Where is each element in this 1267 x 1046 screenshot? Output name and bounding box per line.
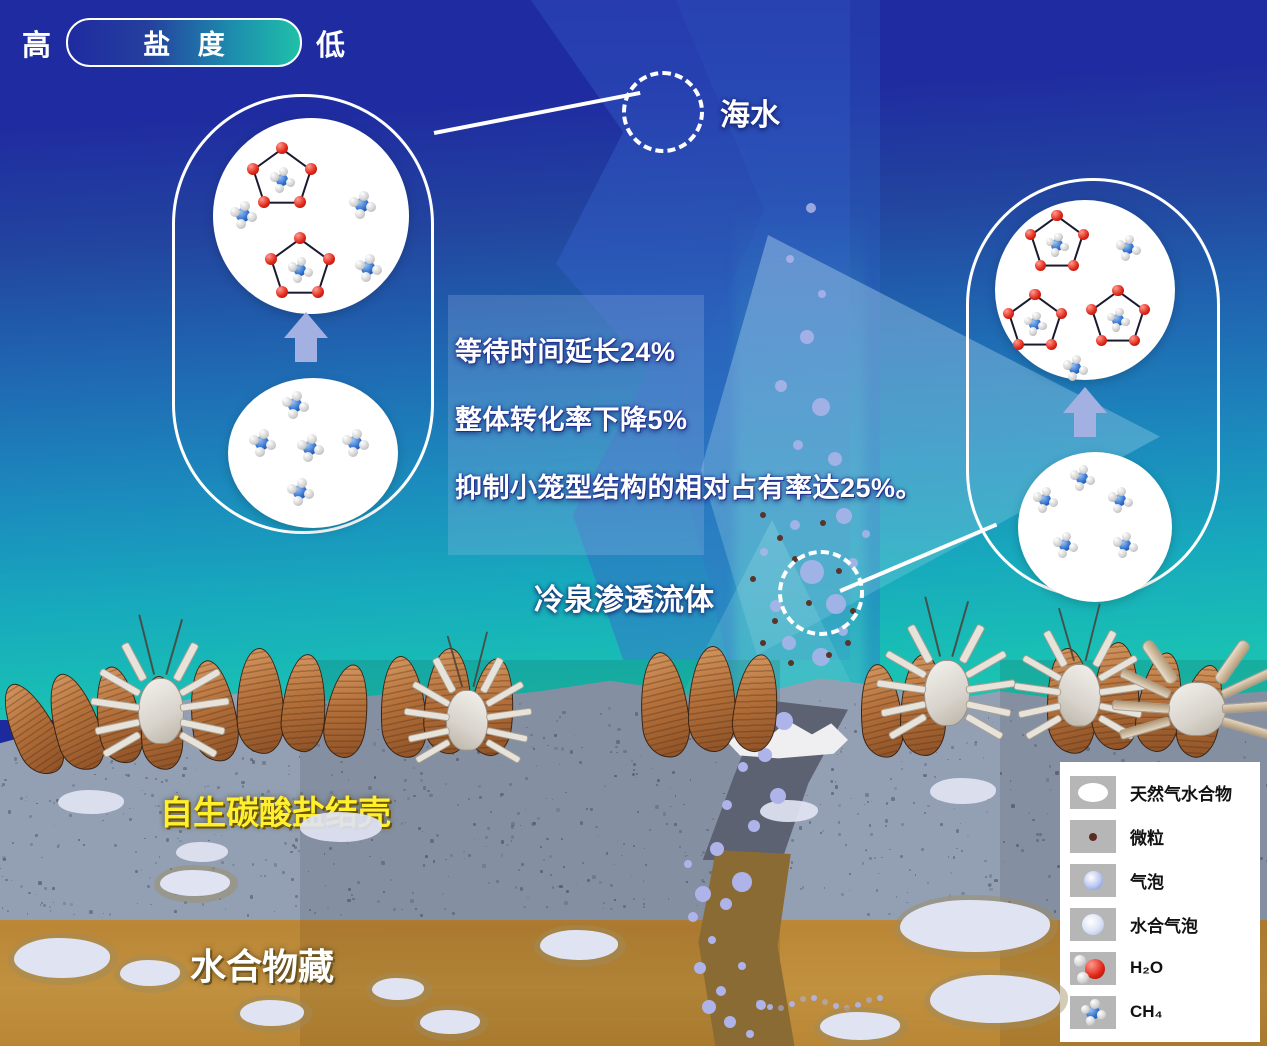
crust-speck <box>250 895 253 898</box>
legend-row: H₂O <box>1060 946 1260 990</box>
crust-speck <box>610 884 613 887</box>
crust-speck <box>511 822 515 826</box>
crust-speck <box>956 848 957 849</box>
hydrate-deposit <box>760 800 818 822</box>
crust-speck <box>430 839 433 842</box>
illustration-canvas: 高 盐 度 低 海水 冷泉渗透流体 等待时间延长24% 整体转化率下降5% 抑制… <box>0 0 1267 1046</box>
crust-speck <box>479 796 482 799</box>
crust-speck <box>151 794 154 797</box>
methane-molecule-swatch-icon <box>1070 996 1116 1029</box>
crust-speck <box>145 777 148 780</box>
water-bubble <box>786 255 794 263</box>
legend-label: 水合气泡 <box>1130 912 1198 937</box>
hydrogen-atom <box>270 172 279 181</box>
hydrogen-atom <box>1079 366 1088 375</box>
hydrogen-atom <box>361 272 371 282</box>
sand-stratum <box>314 985 587 987</box>
crust-speck <box>340 761 343 764</box>
crust-speck <box>420 779 423 782</box>
hydrate-deposit <box>120 960 180 986</box>
crust-speck <box>295 905 297 907</box>
stats-text-block: 等待时间延长24% 整体转化率下降5% 抑制小笼型结构的相对占有率达25%。 <box>455 330 975 534</box>
crust-speck <box>632 773 635 776</box>
crust-speck <box>166 838 169 841</box>
hydrogen-atom <box>342 435 352 445</box>
crust-speck <box>127 774 130 777</box>
oxygen-atom <box>1068 260 1079 271</box>
hydrogen-atom <box>1029 327 1037 335</box>
water-particle <box>750 576 756 582</box>
crust-speck <box>511 825 514 828</box>
crust-speck <box>519 703 521 705</box>
crust-speck <box>43 904 46 907</box>
squat-lobster <box>160 678 161 679</box>
crust-speck <box>587 879 590 882</box>
hydrogen-atom <box>255 447 265 457</box>
crust-speck <box>640 755 641 756</box>
crust-speck <box>288 765 290 767</box>
crust-speck <box>262 761 266 765</box>
crust-speck <box>410 899 414 903</box>
crust-speck <box>182 774 185 777</box>
crust-speck <box>901 768 903 770</box>
crust-speck <box>423 864 426 867</box>
crust-speck <box>608 707 611 710</box>
crust-speck <box>536 765 538 767</box>
crust-speck <box>927 882 929 884</box>
water-bubble <box>760 548 768 556</box>
legend-label: H₂O <box>1130 958 1163 978</box>
crust-speck <box>52 887 54 889</box>
legend-label: 天然气水合物 <box>1130 780 1232 805</box>
legend-label: CH₄ <box>1130 1002 1163 1022</box>
crust-speck <box>429 794 432 797</box>
crust-speck <box>610 908 612 910</box>
vent-bubble <box>720 898 732 910</box>
water-particle <box>845 640 851 646</box>
crust-speck <box>525 777 528 780</box>
crust-speck <box>221 861 223 863</box>
crust-speck <box>501 840 504 843</box>
water-particle <box>760 640 766 646</box>
crust-speck <box>921 848 924 851</box>
salinity-capsule-label: 盐 度 <box>133 23 235 62</box>
crust-speck <box>1034 744 1037 747</box>
hydrogen-atom <box>348 447 358 457</box>
hydrogen-atom <box>230 207 240 217</box>
legend-box: 天然气水合物 微粒 气泡 水合气泡 H₂O CH₄ <box>1060 762 1260 1042</box>
vent-bubble <box>722 800 732 810</box>
hydrogen-atom <box>359 191 369 201</box>
crust-speck <box>1054 910 1056 912</box>
crust-speck <box>161 781 163 783</box>
vent-bubble <box>688 912 698 922</box>
legend-row: CH₄ <box>1060 990 1260 1034</box>
crust-speck <box>549 855 552 858</box>
hydrate-deposit <box>58 790 124 814</box>
hydrogen-atom <box>307 434 317 444</box>
water-bubble <box>806 203 816 213</box>
hydrogen-atom <box>288 409 298 419</box>
stat-line-3: 抑制小笼型结构的相对占有率达25%。 <box>455 466 975 505</box>
salinity-low-label: 低 <box>316 22 346 64</box>
crust-speck <box>144 838 146 840</box>
crab <box>1196 682 1197 683</box>
crust-speck <box>295 895 298 898</box>
crust-speck <box>274 863 277 866</box>
crust-speck <box>478 785 481 788</box>
vent-bubble <box>695 886 711 902</box>
water-molecule-swatch-icon <box>1070 952 1116 985</box>
hydrogen-atom <box>1124 498 1133 507</box>
crust-speck <box>623 750 626 753</box>
crust-speck <box>20 797 23 800</box>
water-particle <box>777 535 783 541</box>
lobster-carapace <box>446 690 488 751</box>
crust-speck <box>595 826 598 829</box>
crust-speck <box>1036 839 1039 842</box>
crust-speck <box>347 899 350 902</box>
crust-speck <box>1050 789 1052 791</box>
hydrogen-atom <box>1086 476 1095 485</box>
crust-speck <box>29 815 32 818</box>
right-callout-methane-circle <box>1018 452 1172 602</box>
vent-bubble <box>702 1000 716 1014</box>
squat-lobster <box>467 690 468 691</box>
crust-speck <box>232 864 234 866</box>
squat-lobster <box>1079 664 1080 665</box>
hydrogen-atom <box>1097 1010 1107 1020</box>
oxygen-atom <box>1112 285 1123 296</box>
crust-speck <box>645 864 647 866</box>
legend-row: 微粒 <box>1060 814 1260 858</box>
seep-fluid-label: 冷泉渗透流体 <box>534 575 714 619</box>
crust-speck <box>112 767 113 768</box>
crust-speck <box>155 778 157 780</box>
crust-speck <box>563 866 565 868</box>
hydrate-deposit <box>540 930 618 960</box>
crust-speck <box>1046 778 1049 781</box>
stat-line-2: 整体转化率下降5% <box>455 398 975 437</box>
crust-speck <box>35 834 38 837</box>
vent-bubble <box>770 788 786 804</box>
crust-speck <box>252 863 254 865</box>
crust-speck <box>876 889 879 892</box>
hydrogen-atom <box>1090 999 1100 1009</box>
hydrate-deposit <box>160 870 230 896</box>
crust-speck <box>924 812 926 814</box>
legend-label: 微粒 <box>1130 824 1164 849</box>
crust-speck <box>401 822 404 825</box>
crust-speck <box>885 819 888 822</box>
crust-speck <box>592 875 596 879</box>
crust-speck <box>570 750 573 753</box>
crust-speck <box>533 748 535 750</box>
crust-speck <box>586 808 588 810</box>
hydrate-deposit <box>820 1012 900 1040</box>
crust-speck <box>617 728 620 731</box>
crust-speck <box>1046 899 1048 901</box>
crust-speck <box>290 851 293 854</box>
hydrate-swatch-icon <box>1070 776 1116 809</box>
crust-speck <box>540 870 543 873</box>
crust-speck <box>252 760 255 763</box>
vent-bubble <box>724 1016 736 1028</box>
crust-speck <box>377 900 380 903</box>
crust-speck <box>420 772 423 775</box>
gas-vent-conduit <box>650 700 870 1046</box>
oxygen-atom <box>1139 304 1150 315</box>
crust-speck <box>923 774 926 777</box>
hydrogen-atom <box>1108 492 1117 501</box>
vent-bubble <box>708 936 716 944</box>
crust-speck <box>413 795 415 797</box>
hydrogen-atom <box>1132 246 1141 255</box>
oxygen-atom <box>1129 335 1140 346</box>
hydrogen-atom <box>355 260 365 270</box>
hydrate-deposit <box>240 1000 304 1026</box>
hydrogen-atom <box>1081 1005 1091 1015</box>
vent-bubble <box>694 962 706 974</box>
crust-speck <box>960 823 961 824</box>
hydrogen-atom <box>1033 492 1042 501</box>
oxygen-atom <box>1078 229 1089 240</box>
crust-speck <box>2 856 5 859</box>
crust-speck <box>165 779 168 782</box>
sand-stratum <box>55 930 383 932</box>
water-bubble <box>818 290 826 298</box>
vent-bubble <box>748 820 760 832</box>
crust-speck <box>623 843 625 845</box>
crust-speck <box>15 762 17 764</box>
crust-speck <box>496 880 499 883</box>
hydrogen-atom <box>1070 470 1079 479</box>
water-particle <box>826 652 832 658</box>
hydrogen-atom <box>1121 318 1129 326</box>
lobster-carapace <box>924 660 970 726</box>
crust-speck <box>1055 771 1058 774</box>
crust-speck <box>561 747 565 751</box>
bubble-trail-dot <box>778 1005 784 1011</box>
hydrate-deposit <box>372 978 424 1000</box>
hydrate-deposit <box>900 900 1050 952</box>
crust-speck <box>1011 804 1015 808</box>
seawater-marker-ring <box>622 71 704 153</box>
crust-speck <box>984 860 986 862</box>
hydrogen-atom <box>1051 248 1059 256</box>
hydrogen-atom <box>352 429 362 439</box>
crust-speck <box>559 885 562 888</box>
lobster-carapace <box>1057 664 1101 727</box>
hydrogen-atom <box>236 219 246 229</box>
crust-speck <box>468 798 470 800</box>
oxygen-atom <box>305 163 317 175</box>
crust-speck <box>12 842 14 844</box>
crust-speck <box>89 910 93 914</box>
crust-speck <box>582 862 584 864</box>
crust-speck <box>445 783 447 785</box>
legend-row: 天然气水合物 <box>1060 770 1260 814</box>
crust-speck <box>457 804 459 806</box>
hydrogen-atom <box>1063 360 1072 369</box>
crust-speck <box>341 771 342 772</box>
crust-speck <box>579 761 581 763</box>
seep-fluid-marker-ring <box>778 550 864 636</box>
crust-speck <box>102 820 104 822</box>
bubble-swatch-icon <box>1070 864 1116 897</box>
vent-bubble <box>738 962 746 970</box>
crust-speck <box>72 784 75 787</box>
crust-speck <box>150 904 151 905</box>
crust-speck <box>564 901 567 904</box>
bubble-trail-dot <box>822 999 828 1005</box>
crust-speck <box>135 870 137 872</box>
crust-speck <box>383 891 385 893</box>
bubble-trail-dot <box>789 1001 795 1007</box>
crust-speck <box>299 756 300 757</box>
crust-speck <box>531 822 534 825</box>
crust-speck <box>50 910 52 912</box>
crust-speck <box>1000 772 1003 775</box>
crust-speck <box>1022 734 1023 735</box>
crust-speck <box>295 838 298 841</box>
crust-speck <box>456 758 459 761</box>
hydrogen-atom <box>1069 543 1078 552</box>
vent-bubble <box>756 1000 766 1010</box>
vent-bubble <box>684 860 692 868</box>
crust-speck <box>959 759 960 760</box>
oxygen-atom <box>276 142 288 154</box>
vent-bubble <box>775 712 793 730</box>
crust-speck <box>404 759 406 761</box>
crust-speck <box>608 724 611 727</box>
crust-speck <box>482 864 485 867</box>
crust-speck <box>382 749 385 752</box>
crust-speck <box>473 823 476 826</box>
crust-speck <box>1028 812 1030 814</box>
crust-speck <box>961 850 963 852</box>
salinity-scale: 高 盐 度 低 <box>22 18 346 67</box>
crust-speck <box>1 708 2 709</box>
hydrate-deposit <box>420 1010 480 1034</box>
crust-speck <box>423 786 426 789</box>
crust-speck <box>989 888 992 891</box>
crust-speck <box>878 873 880 875</box>
crust-speck <box>1010 789 1011 790</box>
hydrogen-atom <box>297 478 307 488</box>
crust-speck <box>554 747 557 750</box>
water-bubble <box>782 636 796 650</box>
crust-speck <box>1032 819 1035 822</box>
crust-speck <box>404 779 407 782</box>
crust-speck <box>179 840 181 842</box>
crust-speck <box>357 881 360 884</box>
hydrogen-atom <box>282 397 292 407</box>
crust-speck <box>889 849 890 850</box>
squat-lobster <box>946 660 947 661</box>
hydrogen-atom <box>355 209 365 219</box>
vent-bubble <box>710 842 724 856</box>
crust-speck <box>129 818 131 820</box>
hydrogen-atom <box>1116 240 1125 249</box>
crust-speck <box>14 757 17 760</box>
legend-row: 气泡 <box>1060 858 1260 902</box>
crust-speck <box>69 814 72 817</box>
crust-speck <box>947 759 948 760</box>
hydrogen-atom <box>292 391 302 401</box>
crust-speck <box>1113 752 1116 755</box>
hydrogen-atom <box>365 254 375 264</box>
crust-speck <box>30 843 33 846</box>
crust-speck <box>381 861 384 864</box>
crust-speck <box>20 885 23 888</box>
hydrogen-atom <box>1038 322 1046 330</box>
crust-speck <box>511 835 515 839</box>
oxygen-atom <box>294 196 306 208</box>
hydrogen-atom <box>288 262 297 271</box>
oxygen-atom <box>1056 308 1067 319</box>
crust-speck <box>599 881 602 884</box>
crust-speck <box>966 742 968 744</box>
oxygen-atom <box>1029 289 1040 300</box>
crust-speck <box>556 808 560 812</box>
crust-speck <box>327 908 329 910</box>
crust-speck <box>109 913 111 915</box>
bubble-trail-dot <box>877 995 883 1001</box>
hydrogen-atom <box>1049 498 1058 507</box>
hydrogen-atom <box>1074 955 1086 967</box>
crust-speck <box>636 773 638 775</box>
crust-speck <box>590 808 593 811</box>
crust-speck <box>241 781 245 785</box>
crust-speck <box>44 887 47 890</box>
crust-speck <box>177 838 178 839</box>
crust-speck <box>552 799 553 800</box>
crust-speck <box>485 836 488 839</box>
crust-speck <box>8 810 12 814</box>
crust-speck <box>891 797 895 801</box>
crust-speck <box>291 878 294 881</box>
crust-speck <box>985 876 987 878</box>
oxygen-atom <box>323 253 335 265</box>
hydrate-reservoir-label: 水合物藏 <box>190 938 334 990</box>
crust-speck <box>1245 741 1247 743</box>
crust-speck <box>1010 720 1012 722</box>
crust-speck <box>633 769 635 771</box>
hydrogen-atom <box>297 440 307 450</box>
crust-speck <box>83 844 85 846</box>
crust-speck <box>1036 833 1039 836</box>
crust-speck <box>294 846 297 849</box>
crust-speck <box>521 863 524 866</box>
crust-speck <box>373 742 377 746</box>
crust-speck <box>614 775 616 777</box>
crust-speck <box>896 896 897 897</box>
vent-bubble <box>732 872 752 892</box>
crust-speck <box>444 908 445 909</box>
oxygen-atom <box>1046 339 1057 350</box>
legend-row: 水合气泡 <box>1060 902 1260 946</box>
crust-speck <box>298 850 300 852</box>
crust-speck <box>988 883 992 887</box>
crust-speck <box>78 839 80 841</box>
crust-speck <box>348 779 349 780</box>
hydrogen-atom <box>293 496 303 506</box>
oxygen-atom <box>294 232 306 244</box>
crust-speck <box>909 869 910 870</box>
crust-speck <box>989 874 992 877</box>
crust-speck <box>616 740 620 744</box>
